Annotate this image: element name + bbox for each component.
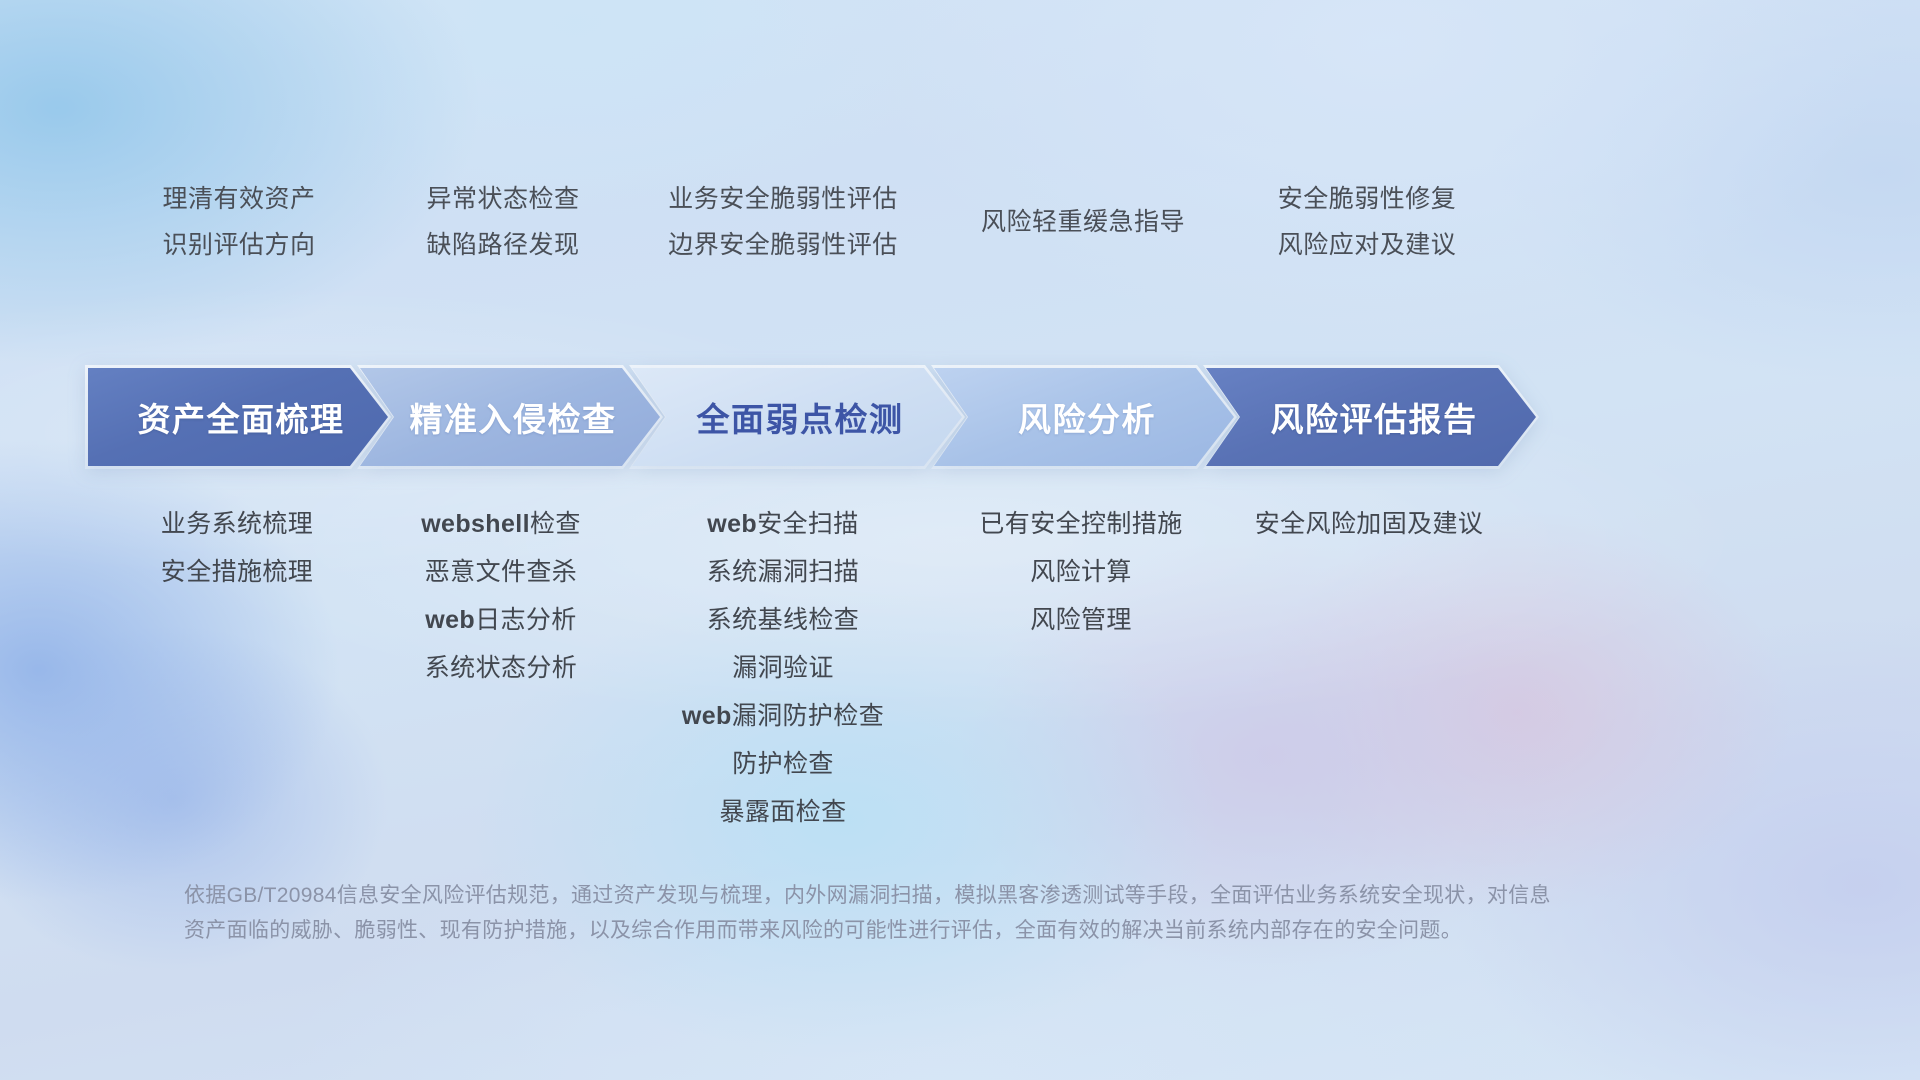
top-annotation-stack-4: 风险轻重缓急指导 [955,176,1185,268]
top-annotation-stack-3: 业务安全脆弱性评估 边界安全脆弱性评估 [668,176,898,268]
top-annotation-group-4: 风险轻重缓急指导 [934,176,1206,268]
chevron-step-assessment-report[interactable]: 风险评估报告 [1206,368,1536,466]
chevron-step-label: 精准入侵检查 [404,393,617,441]
chevron-step-label: 风险分析 [1012,393,1156,441]
bottom-annotation-item: 漏洞验证 [732,644,834,692]
bottom-annotation-item: 业务系统梳理 [161,500,313,548]
bottom-annotation-stack-4: 已有安全控制措施 风险计算 风险管理 [957,500,1182,644]
top-annotation-item: 理清有效资产 [162,176,315,222]
item-latin-prefix: webshell [421,510,530,538]
bottom-annotation-item: 风险管理 [1030,596,1132,644]
top-annotation-group-2: 异常状态检查 缺陷路径发现 [360,176,632,268]
top-annotation-item: 安全脆弱性修复 [1278,176,1457,222]
item-text: 系统状态分析 [425,654,577,682]
item-latin-prefix: web [425,606,475,634]
item-text: 防护检查 [732,750,834,778]
bottom-annotation-stack-2: webshell检查 恶意文件查杀 web日志分析 系统状态分析 [411,500,581,692]
item-text: 漏洞防护检查 [732,702,884,730]
item-latin-prefix: web [682,702,732,730]
top-annotation-stack-2: 异常状态检查 缺陷路径发现 [412,176,579,268]
top-annotation-group-5: 安全脆弱性修复 风险应对及建议 [1206,176,1508,268]
bottom-annotation-item: 安全措施梳理 [161,548,313,596]
item-text: 检查 [530,510,581,538]
bottom-annotation-item: 系统漏洞扫描 [707,548,859,596]
top-annotation-stack-1: 理清有效资产 识别评估方向 [132,176,315,268]
item-text: 风险管理 [1030,606,1132,634]
bottom-annotation-group-5: 安全风险加固及建议 [1206,500,1508,548]
bottom-annotation-item: web日志分析 [425,596,576,644]
top-annotation-row: 理清有效资产 识别评估方向 异常状态检查 缺陷路径发现 业务安全脆弱性评估 边界… [88,176,1832,286]
bottom-annotation-group-3: web安全扫描 系统漏洞扫描 系统基线检查 漏洞验证 web漏洞防护检查 [632,500,934,836]
bottom-annotation-group-4: 已有安全控制措施 风险计算 风险管理 [934,500,1206,644]
process-flow-diagram: 理清有效资产 识别评估方向 异常状态检查 缺陷路径发现 业务安全脆弱性评估 边界… [88,0,1832,1080]
bottom-annotation-group-2: webshell检查 恶意文件查杀 web日志分析 系统状态分析 [360,500,632,692]
item-text: 已有安全控制措施 [979,510,1182,538]
item-text: 业务系统梳理 [161,510,313,538]
bottom-annotation-item: 安全风险加固及建议 [1255,500,1484,548]
bottom-annotation-item: 风险计算 [1030,548,1132,596]
item-text: 安全措施梳理 [161,558,313,586]
item-text: 系统基线检查 [707,606,859,634]
item-text: 风险计算 [1030,558,1132,586]
bottom-annotation-item: web安全扫描 [707,500,858,548]
top-annotation-item: 风险应对及建议 [1278,222,1457,268]
top-annotation-item: 识别评估方向 [162,222,315,268]
bottom-annotation-stack-3: web安全扫描 系统漏洞扫描 系统基线检查 漏洞验证 web漏洞防护检查 [682,500,884,836]
top-annotation-stack-5: 安全脆弱性修复 风险应对及建议 [1258,176,1457,268]
top-annotation-item: 风险轻重缓急指导 [981,176,1185,268]
item-text: 安全扫描 [757,510,859,538]
footer-description: 依据GB/T20984信息安全风险评估规范，通过资产发现与梳理，内外网漏洞扫描，… [184,878,1684,948]
bottom-annotation-item: webshell检查 [421,500,581,548]
item-text: 漏洞验证 [732,654,834,682]
footer-line-2: 资产面临的威胁、脆弱性、现有防护措施，以及综合作用而带来风险的可能性进行评估，全… [184,913,1684,948]
item-text: 暴露面检查 [719,798,846,826]
top-annotation-item: 业务安全脆弱性评估 [668,176,898,222]
bottom-annotation-item: 恶意文件查杀 [425,548,577,596]
bottom-annotation-item: 已有安全控制措施 [979,500,1182,548]
chevron-step-label: 资产全面梳理 [132,393,345,441]
slide-stage: 理清有效资产 识别评估方向 异常状态检查 缺陷路径发现 业务安全脆弱性评估 边界… [0,0,1920,1080]
bottom-annotation-item: 系统基线检查 [707,596,859,644]
chevron-step-label: 风险评估报告 [1265,393,1478,441]
bottom-annotation-group-1: 业务系统梳理 安全措施梳理 [88,500,360,596]
bottom-annotation-row: 业务系统梳理 安全措施梳理 webshell检查 恶意文件查杀 [88,500,1832,836]
top-annotation-group-1: 理清有效资产 识别评估方向 [88,176,360,268]
top-annotation-item: 缺陷路径发现 [426,222,579,268]
item-text: 恶意文件查杀 [425,558,577,586]
chevron-step-weakness-detection[interactable]: 全面弱点检测 [632,368,962,466]
top-annotation-item: 边界安全脆弱性评估 [668,222,898,268]
bottom-annotation-item: 防护检查 [732,740,834,788]
bottom-annotation-stack-1: 业务系统梳理 安全措施梳理 [135,500,313,596]
footer-line-1: 依据GB/T20984信息安全风险评估规范，通过资产发现与梳理，内外网漏洞扫描，… [184,878,1684,913]
item-latin-prefix: web [707,510,757,538]
bottom-annotation-item: 暴露面检查 [719,788,846,836]
chevron-step-asset-inventory[interactable]: 资产全面梳理 [88,368,388,466]
item-text: 系统漏洞扫描 [707,558,859,586]
bottom-annotation-item: web漏洞防护检查 [682,692,884,740]
item-text: 日志分析 [475,606,577,634]
top-annotation-item: 异常状态检查 [426,176,579,222]
chevron-step-intrusion-check[interactable]: 精准入侵检查 [360,368,660,466]
top-annotation-group-3: 业务安全脆弱性评估 边界安全脆弱性评估 [632,176,934,268]
process-chevron-banner: 资产全面梳理 精准入侵检查 全面弱点检测 风险分析 风险评估报告 [88,368,1832,466]
item-text: 安全风险加固及建议 [1255,510,1484,538]
bottom-annotation-item: 系统状态分析 [425,644,577,692]
bottom-annotation-stack-5: 安全风险加固及建议 [1231,500,1484,548]
chevron-step-label: 全面弱点检测 [691,393,904,441]
chevron-step-risk-analysis[interactable]: 风险分析 [934,368,1234,466]
